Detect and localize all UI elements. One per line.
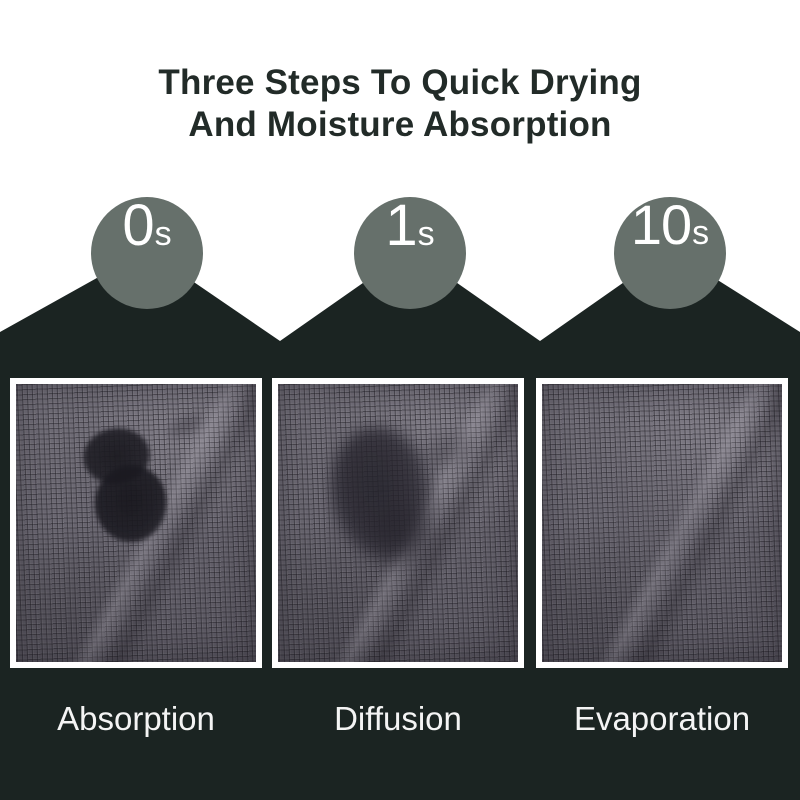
quick-drying-infographic: Three Steps To Quick Drying And Moisture…	[0, 0, 800, 800]
step-label-absorption: Absorption	[10, 700, 262, 738]
time-badge-unit: s	[692, 216, 709, 250]
photo-panel-absorption	[10, 378, 262, 668]
photo-vignette	[278, 384, 518, 662]
time-badge-number: 0	[122, 197, 153, 255]
fabric-photo-evaporation	[542, 384, 782, 662]
photo-panel-evaporation	[536, 378, 788, 668]
time-badge-evaporation: 10 s	[614, 197, 726, 309]
time-badge-number: 10	[631, 197, 691, 253]
time-badge-unit: s	[155, 217, 172, 251]
title-line-1: Three Steps To Quick Drying	[0, 62, 800, 104]
step-label-diffusion: Diffusion	[272, 700, 524, 738]
time-badge-number: 1	[385, 197, 416, 255]
photo-panel-diffusion	[272, 378, 524, 668]
fabric-photo-diffusion	[278, 384, 518, 662]
time-badge-unit: s	[418, 217, 435, 251]
photo-vignette	[16, 384, 256, 662]
time-badge-absorption: 0 s	[91, 197, 203, 309]
title-line-2: And Moisture Absorption	[0, 104, 800, 146]
fabric-photo-absorption	[16, 384, 256, 662]
time-badge-diffusion: 1 s	[354, 197, 466, 309]
page-title: Three Steps To Quick Drying And Moisture…	[0, 62, 800, 146]
photo-vignette	[542, 384, 782, 662]
step-label-evaporation: Evaporation	[536, 700, 788, 738]
